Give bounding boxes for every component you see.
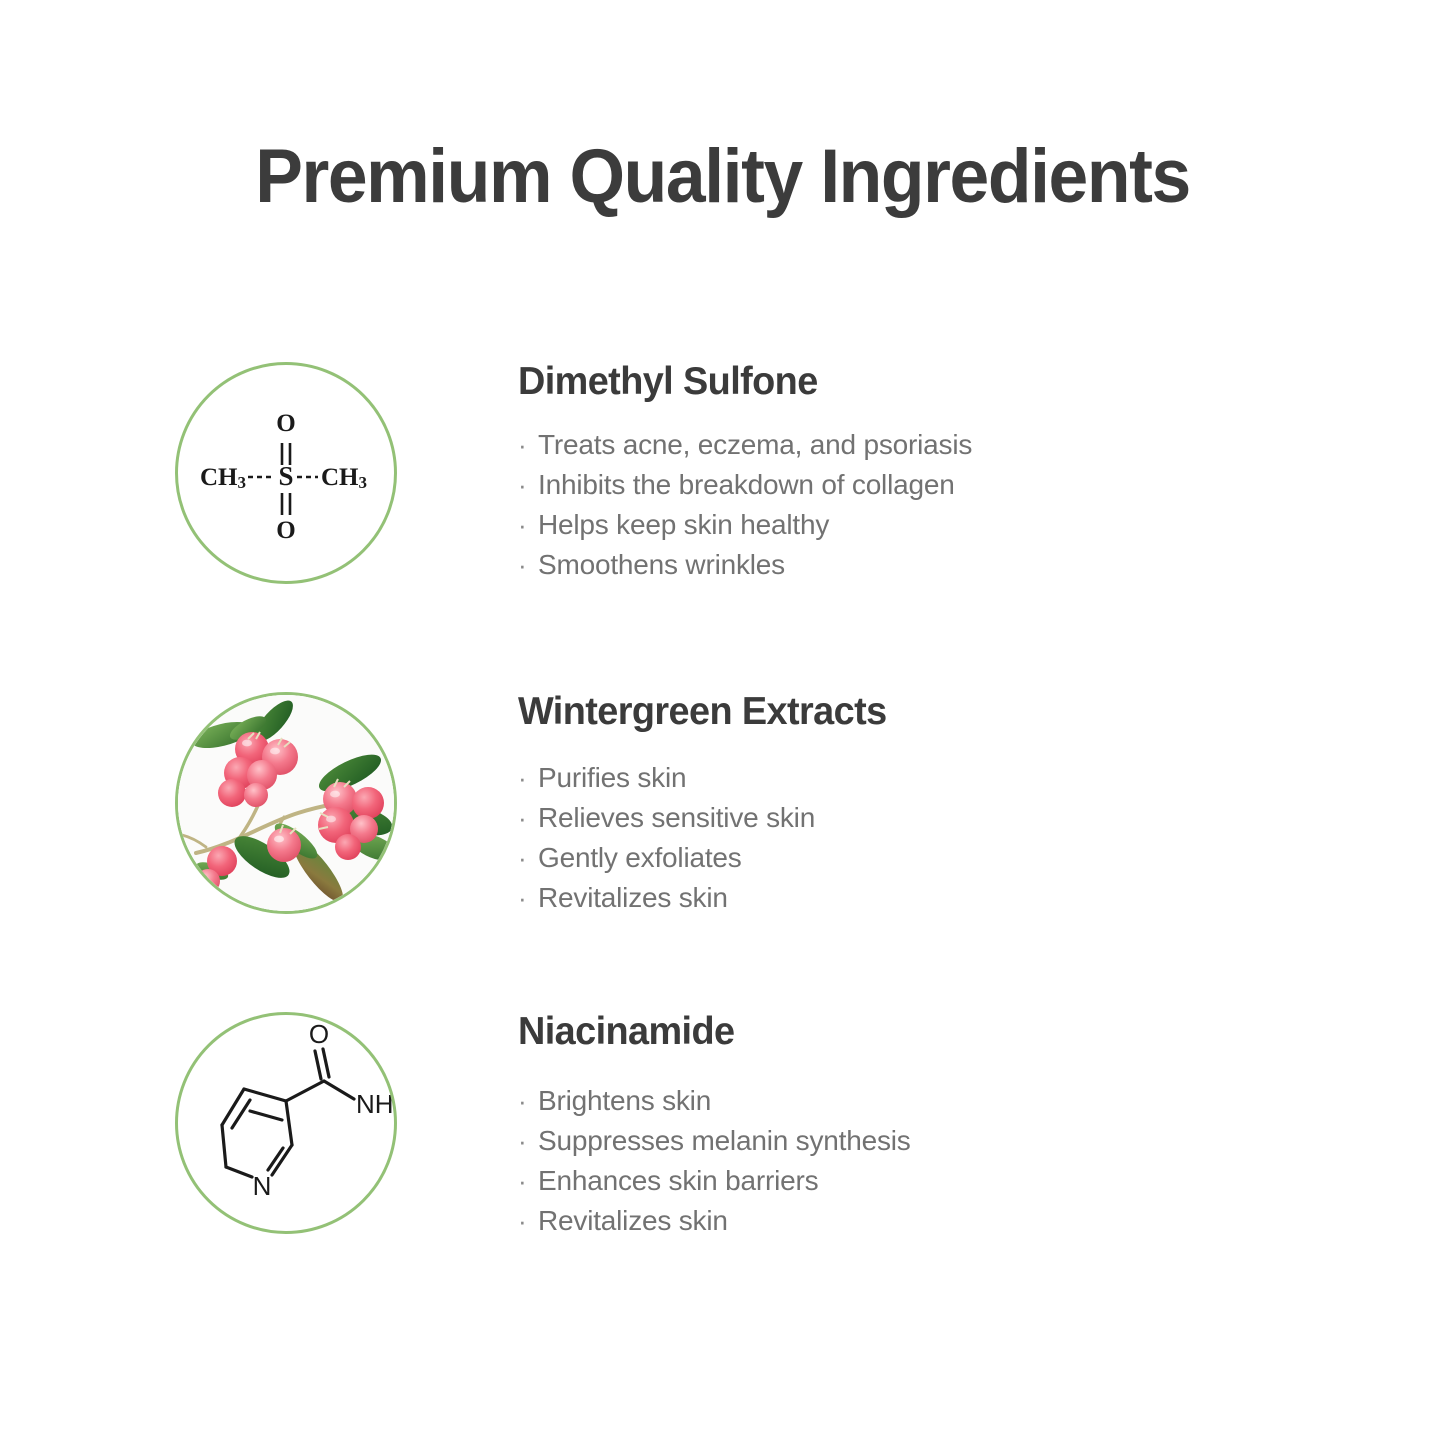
ingredient-text-block: Wintergreen Extracts · Purifies skin · R… — [518, 692, 1278, 918]
list-item: · Brightens skin — [518, 1081, 1278, 1121]
ingredient-name: Wintergreen Extracts — [518, 692, 1255, 733]
wintergreen-berries-photo — [178, 695, 394, 911]
molecule-atom-s: S — [278, 461, 293, 491]
molecule-group-ch3-right: CH3 — [321, 464, 367, 492]
benefit-text: Brightens skin — [538, 1081, 711, 1120]
molecule-group-nh2: NH2 — [356, 1089, 394, 1123]
bullet-icon: · — [518, 506, 538, 545]
ingredient-text-block: Niacinamide · Brightens skin · Suppresse… — [518, 1012, 1278, 1241]
ingredient-icon-circle: N O NH2 — [175, 1012, 397, 1234]
benefit-text: Gently exfoliates — [538, 838, 742, 877]
benefit-text: Revitalizes skin — [538, 878, 728, 917]
molecule-atom-o: O — [309, 1019, 329, 1049]
benefit-text: Suppresses melanin synthesis — [538, 1121, 911, 1160]
ingredient-row: N O NH2 Niacinamide · Brightens skin · — [170, 1012, 1290, 1252]
ingredient-name: Dimethyl Sulfone — [518, 362, 1255, 403]
benefit-text: Treats acne, eczema, and psoriasis — [538, 425, 972, 464]
list-item: · Inhibits the breakdown of collagen — [518, 465, 1278, 505]
benefit-text: Smoothens wrinkles — [538, 545, 785, 584]
benefit-list: · Brightens skin · Suppresses melanin sy… — [518, 1081, 1278, 1241]
list-item: · Enhances skin barriers — [518, 1161, 1278, 1201]
bullet-icon: · — [518, 466, 538, 505]
bullet-icon: · — [518, 759, 538, 798]
wintergreen-illustration — [178, 695, 394, 911]
ingredient-text-block: Dimethyl Sulfone · Treats acne, eczema, … — [518, 362, 1278, 585]
molecule-atom-o-top: O — [276, 410, 295, 437]
list-item: · Suppresses melanin synthesis — [518, 1121, 1278, 1161]
list-item: · Revitalizes skin — [518, 878, 1278, 918]
list-item: · Helps keep skin healthy — [518, 505, 1278, 545]
bullet-icon: · — [518, 1082, 538, 1121]
bullet-icon: · — [518, 1162, 538, 1201]
ingredient-row: O S CH3 CH3 — [170, 362, 1290, 602]
benefit-text: Inhibits the breakdown of collagen — [538, 465, 955, 504]
niacinamide-molecule-icon: N O NH2 — [178, 1015, 394, 1231]
list-item: · Relieves sensitive skin — [518, 798, 1278, 838]
ingredient-name: Niacinamide — [518, 1012, 1255, 1053]
bullet-icon: · — [518, 546, 538, 585]
list-item: · Gently exfoliates — [518, 838, 1278, 878]
bullet-icon: · — [518, 1122, 538, 1161]
bullet-icon: · — [518, 426, 538, 465]
molecule-atom-n-ring: N — [253, 1171, 272, 1201]
molecule-atom-o-bottom: O — [276, 517, 295, 544]
benefit-list: · Purifies skin · Relieves sensitive ski… — [518, 758, 1278, 918]
ingredient-icon-circle: O S CH3 CH3 — [175, 362, 397, 584]
bullet-icon: · — [518, 879, 538, 918]
benefit-text: Helps keep skin healthy — [538, 505, 829, 544]
ingredient-row: Wintergreen Extracts · Purifies skin · R… — [170, 692, 1290, 932]
benefit-text: Enhances skin barriers — [538, 1161, 818, 1200]
bullet-icon: · — [518, 839, 538, 878]
benefit-text: Purifies skin — [538, 758, 686, 797]
ingredient-icon-circle — [175, 692, 397, 914]
benefit-text: Revitalizes skin — [538, 1201, 728, 1240]
list-item: · Smoothens wrinkles — [518, 545, 1278, 585]
molecule-group-ch3-left: CH3 — [200, 464, 246, 492]
dimethyl-sulfone-molecule-icon: O S CH3 CH3 — [178, 365, 394, 581]
list-item: · Treats acne, eczema, and psoriasis — [518, 425, 1278, 465]
list-item: · Purifies skin — [518, 758, 1278, 798]
bullet-icon: · — [518, 1202, 538, 1241]
list-item: · Revitalizes skin — [518, 1201, 1278, 1241]
benefit-list: · Treats acne, eczema, and psoriasis · I… — [518, 425, 1278, 585]
ingredients-page: Premium Quality Ingredients O S CH3 CH3 — [0, 0, 1445, 1445]
benefit-text: Relieves sensitive skin — [538, 798, 815, 837]
bullet-icon: · — [518, 799, 538, 838]
page-title: Premium Quality Ingredients — [43, 133, 1401, 220]
